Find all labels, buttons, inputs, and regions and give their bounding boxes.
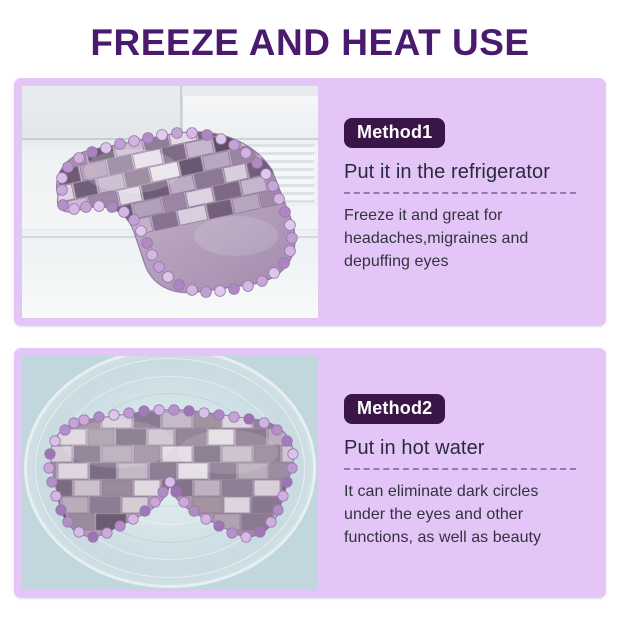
product-photo-refrigerator	[22, 86, 318, 318]
method-2-body: It can eliminate dark circles under the …	[344, 480, 594, 549]
method-1-body-line-1: Freeze it and great for	[344, 204, 594, 227]
method-1-badge: Method1	[344, 118, 445, 148]
method-2-body-line-1: It can eliminate dark circles	[344, 480, 594, 503]
page-title: FREEZE AND HEAT USE	[0, 22, 620, 64]
method-1-body-line-3: depuffing eyes	[344, 250, 594, 273]
method-panel-2: Method2 Put in hot water It can eliminat…	[14, 348, 606, 598]
method-1-body-line-2: headaches,migraines and	[344, 227, 594, 250]
method-panel-1: Method1 Put it in the refrigerator Freez…	[14, 78, 606, 326]
method-2-badge: Method2	[344, 394, 445, 424]
crystal-eye-mask-angled	[22, 86, 318, 318]
crystal-eye-mask-flat	[22, 356, 318, 590]
method-1-divider	[344, 192, 576, 194]
method-2-heading: Put in hot water	[344, 437, 594, 460]
method-1-text-block: Method1 Put it in the refrigerator Freez…	[344, 118, 594, 273]
method-2-text-block: Method2 Put in hot water It can eliminat…	[344, 394, 594, 549]
method-2-body-line-3: functions, as well as beauty	[344, 526, 594, 549]
method-1-body: Freeze it and great for headaches,migrai…	[344, 204, 594, 273]
method-1-heading: Put it in the refrigerator	[344, 161, 594, 184]
infographic-root: FREEZE AND HEAT USE	[0, 0, 620, 620]
product-photo-hot-water	[22, 356, 318, 590]
method-2-body-line-2: under the eyes and other	[344, 503, 594, 526]
method-2-divider	[344, 468, 576, 470]
